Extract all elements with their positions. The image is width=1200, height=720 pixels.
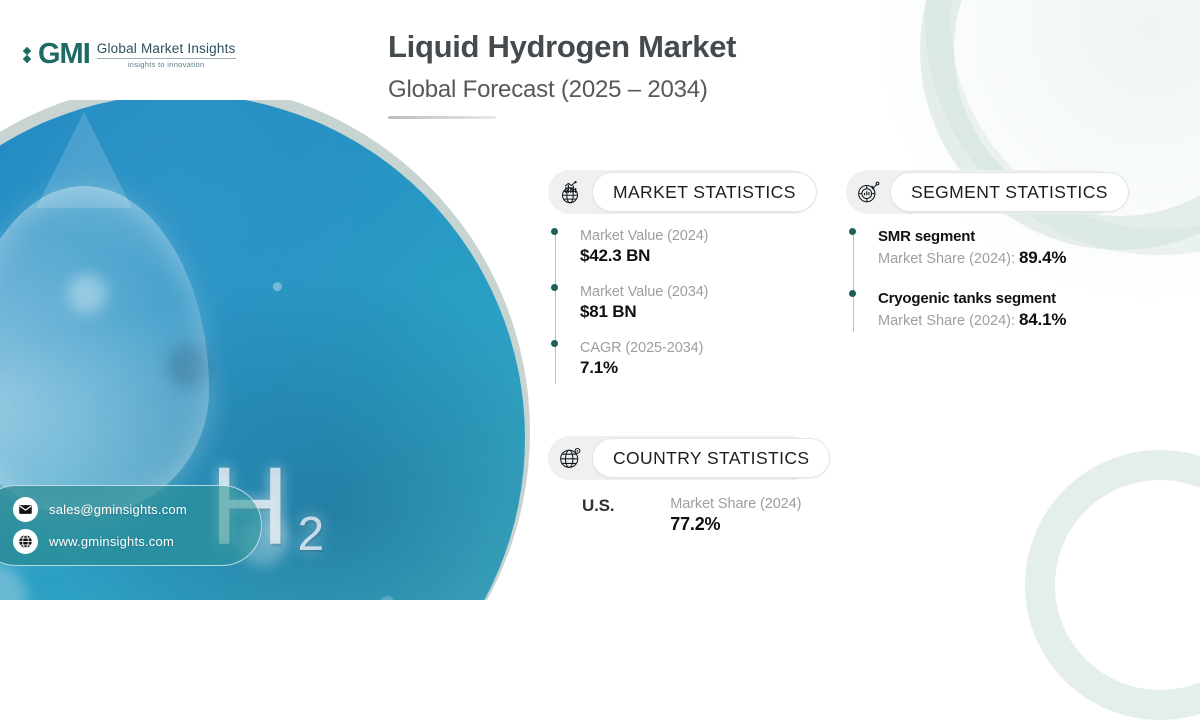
contact-website-text: www.gminsights.com (49, 534, 174, 549)
country-share: Market Share (2024) 77.2% (670, 496, 801, 535)
item-label: Market Value (2034) (580, 284, 814, 300)
logo-tagline: insights to innovation (97, 60, 236, 69)
hero-image-panel: H2 sales@gminsights.com (0, 100, 540, 600)
item-value: 89.4% (1019, 248, 1066, 267)
item-label: Market Share (2024): (878, 313, 1015, 329)
logo-wordmark: Global Market Insights insights to innov… (97, 41, 236, 69)
segment-statistics-pill: SEGMENT STATISTICS (890, 172, 1129, 212)
item-value: 7.1% (580, 358, 814, 378)
item-value: 84.1% (1019, 310, 1066, 329)
timeline-dot (551, 284, 558, 291)
item-label: CAGR (2025-2034) (580, 340, 814, 356)
timeline-dot (551, 228, 558, 235)
list-item: Cryogenic tanks segment Market Share (20… (878, 290, 1118, 330)
brand-logo[interactable]: GMI Global Market Insights insights to i… (24, 38, 236, 71)
list-item: CAGR (2025-2034) 7.1% (580, 340, 814, 378)
country-name: U.S. (582, 496, 614, 516)
timeline-dot (849, 290, 856, 297)
contact-email-text: sales@gminsights.com (49, 502, 187, 517)
market-statistics-pill: MARKET STATISTICS (592, 172, 817, 212)
item-label: Market Share (2024): (878, 251, 1015, 267)
timeline-rail (555, 232, 556, 384)
logo-company-name: Global Market Insights (97, 41, 236, 56)
page-subtitle: Global Forecast (2025 – 2034) (388, 76, 736, 104)
background-arc-bottom (1025, 450, 1200, 720)
market-statistics-heading: MARKET STATISTICS (613, 182, 796, 203)
item-value: $42.3 BN (580, 246, 814, 266)
timeline-dot (849, 228, 856, 235)
title-underline (388, 116, 496, 119)
list-item: Market Value (2034) $81 BN (580, 284, 814, 322)
segment-statistics-header: SEGMENT STATISTICS (846, 170, 1118, 214)
logo-divider (97, 58, 236, 59)
country-statistics-block: COUNTRY STATISTICS U.S. Market Share (20… (548, 436, 814, 535)
pie-target-icon (846, 170, 890, 214)
segment-statistics-items: SMR segment Market Share (2024): 89.4% C… (846, 228, 1118, 330)
list-item: Market Value (2024) $42.3 BN (580, 228, 814, 266)
hydrogen-droplet-icon (0, 186, 209, 516)
country-statistics-pill: COUNTRY STATISTICS (592, 438, 830, 478)
segment-share: Market Share (2024): 89.4% (878, 248, 1118, 268)
market-statistics-header: MARKET STATISTICS (548, 170, 814, 214)
segment-name: SMR segment (878, 228, 1118, 245)
timeline-dot (551, 340, 558, 347)
item-label: Market Value (2024) (580, 228, 814, 244)
globe-icon (13, 529, 38, 554)
segment-statistics-block: SEGMENT STATISTICS SMR segment Market Sh… (846, 170, 1118, 330)
globe-chart-icon (548, 170, 592, 214)
list-item: SMR segment Market Share (2024): 89.4% (878, 228, 1118, 268)
page-title: Liquid Hydrogen Market (388, 30, 736, 64)
logo-diamond-icon (24, 48, 30, 62)
item-label: Market Share (2024) (670, 496, 801, 512)
segment-statistics-heading: SEGMENT STATISTICS (911, 182, 1108, 203)
market-statistics-items: Market Value (2024) $42.3 BN Market Valu… (548, 228, 814, 378)
contact-email-row[interactable]: sales@gminsights.com (13, 497, 243, 522)
country-statistics-row: U.S. Market Share (2024) 77.2% (548, 496, 814, 535)
h2-subscript: 2 (297, 508, 328, 561)
timeline-rail (853, 232, 854, 332)
bokeh-blob (0, 564, 27, 600)
item-value: 77.2% (670, 514, 801, 535)
envelope-icon (13, 497, 38, 522)
segment-share: Market Share (2024): 84.1% (878, 310, 1118, 330)
country-statistics-heading: COUNTRY STATISTICS (613, 448, 809, 469)
item-value: $81 BN (580, 302, 814, 322)
logo-mark: GMI (38, 38, 90, 71)
segment-name: Cryogenic tanks segment (878, 290, 1118, 307)
page-header: Liquid Hydrogen Market Global Forecast (… (388, 30, 736, 119)
country-statistics-header: COUNTRY STATISTICS (548, 436, 814, 480)
contact-panel: sales@gminsights.com www.gminsights.com (0, 485, 262, 566)
contact-website-row[interactable]: www.gminsights.com (13, 529, 243, 554)
globe-pin-icon (548, 436, 592, 480)
market-statistics-block: MARKET STATISTICS Market Value (2024) $4… (548, 170, 814, 378)
